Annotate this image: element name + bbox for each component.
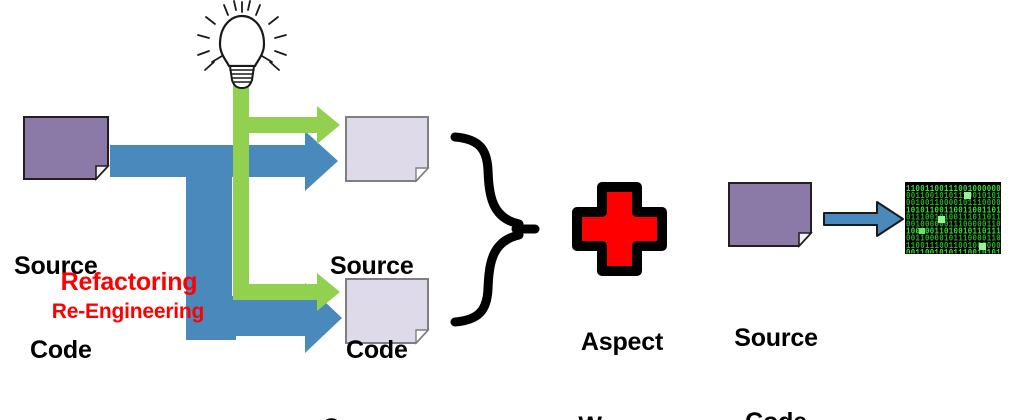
label-line-1: Aspect	[548, 328, 696, 356]
document-page-icon-input	[24, 117, 108, 179]
curly-brace-right	[455, 137, 535, 322]
label-line-2: Code	[14, 336, 144, 364]
label-concerns: Concerns	[322, 358, 482, 420]
annotation-refactoring: Refactoring	[26, 268, 232, 296]
document-page-icon-woven	[729, 183, 811, 246]
svg-text:00110010101110010101: 00110010101110010101	[906, 248, 1001, 258]
binary-code-image: 1100110011100100000000110010101110010101…	[905, 182, 1001, 258]
document-page-icon-source-out	[346, 117, 428, 181]
blue-compile-arrow	[824, 202, 903, 236]
label-line-2: Weaver	[548, 412, 696, 420]
diagram-graphics: 1100110011100100000000110010101110010101…	[0, 0, 1028, 420]
label-line-1: Source	[330, 252, 460, 280]
green-split-arrow	[233, 84, 340, 311]
lightbulb-icon	[198, 1, 286, 88]
plus-cross-icon	[577, 187, 662, 271]
diagram-canvas: 1100110011100100000000110010101110010101…	[0, 0, 1028, 420]
label-woven-source-code: Source Code	[706, 268, 846, 420]
label-line-1: Concerns	[322, 414, 482, 420]
label-line-1: Source	[706, 324, 846, 352]
label-aspect-weaver: Aspect Weaver	[548, 272, 696, 420]
label-line-2: Code	[706, 408, 846, 420]
annotation-reengineering: Re-Engineering	[12, 300, 244, 324]
